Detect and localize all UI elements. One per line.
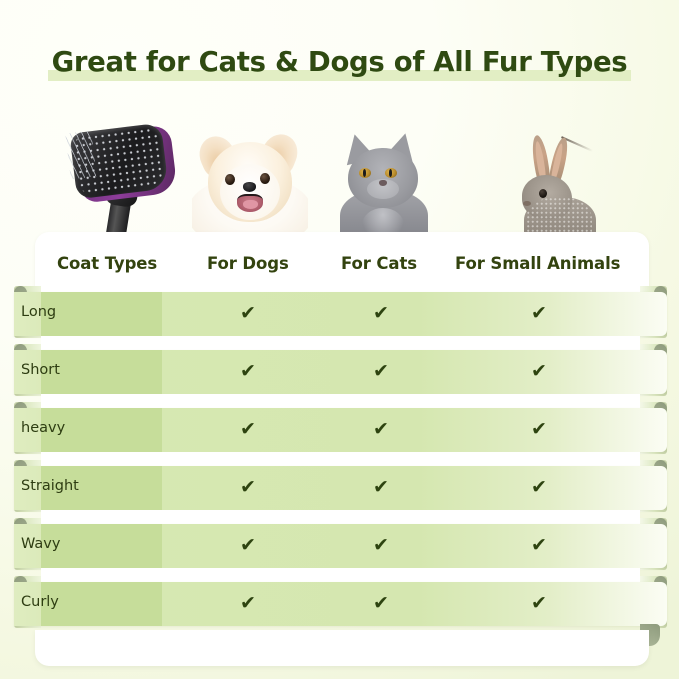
coat-type-label: Wavy [21,536,60,552]
check-for-small-animals: ✔ [528,359,550,383]
check-for-dogs: ✔ [237,475,259,499]
cat-image [336,132,432,242]
slicker-brush-image [62,124,190,242]
page-root: Great for Cats & Dogs of All Fur Types [0,0,679,679]
dog-nose [243,182,256,192]
brush-bristle-edge [65,131,96,180]
dog-tongue [243,200,258,209]
cell-coat-type [41,292,162,336]
check-for-dogs: ✔ [237,591,259,615]
check-for-small-animals: ✔ [528,591,550,615]
check-for-small-animals: ✔ [528,417,550,441]
check-for-cats: ✔ [370,301,392,325]
row-separator [41,336,640,350]
check-for-cats: ✔ [370,533,392,557]
coat-type-label: Long [21,304,56,320]
rabbit-nose [523,201,531,206]
row-separator [41,394,640,408]
table-header-card: Coat Types For Dogs For Cats For Small A… [35,232,649,292]
check-for-cats: ✔ [370,359,392,383]
dog-image [192,120,308,242]
dog-eye-right [260,173,270,184]
table-row: Curly ✔ ✔ ✔ [0,582,679,626]
check-for-cats: ✔ [370,417,392,441]
coat-type-label: Curly [21,594,59,610]
table-row: Long ✔ ✔ ✔ [0,292,679,336]
rabbit-image [512,135,604,243]
column-header-for-dogs: For Dogs [207,254,289,273]
page-title: Great for Cats & Dogs of All Fur Types [52,42,628,82]
check-for-small-animals: ✔ [528,533,550,557]
coat-type-label: Straight [21,478,79,494]
coat-type-label: Short [21,362,60,378]
check-for-dogs: ✔ [237,533,259,557]
rabbit-eye [539,189,547,198]
cell-coat-type [41,582,162,626]
check-for-cats: ✔ [370,475,392,499]
column-header-for-cats: For Cats [341,254,417,273]
row-separator [41,510,640,524]
column-header-coat-types: Coat Types [57,254,157,273]
column-header-for-small-animals: For Small Animals [455,254,620,273]
check-for-dogs: ✔ [237,301,259,325]
cat-nose [379,180,387,186]
table-row: Wavy ✔ ✔ ✔ [0,524,679,568]
check-for-dogs: ✔ [237,359,259,383]
cat-head [348,148,418,208]
table-row: Short ✔ ✔ ✔ [0,350,679,394]
title-block: Great for Cats & Dogs of All Fur Types [0,42,679,88]
table-footer-bar [35,630,649,666]
check-for-small-animals: ✔ [528,301,550,325]
row-separator [41,452,640,466]
check-for-dogs: ✔ [237,417,259,441]
row-separator [41,568,640,582]
coat-type-table: Coat Types For Dogs For Cats For Small A… [0,232,679,672]
coat-type-label: heavy [21,420,65,436]
title-inner: Great for Cats & Dogs of All Fur Types [48,42,632,82]
dog-eye-left [225,174,235,185]
table-row: Straight ✔ ✔ ✔ [0,466,679,510]
table-row: heavy ✔ ✔ ✔ [0,408,679,452]
check-for-cats: ✔ [370,591,392,615]
check-for-small-animals: ✔ [528,475,550,499]
table-header-row: Coat Types For Dogs For Cats For Small A… [35,232,649,292]
